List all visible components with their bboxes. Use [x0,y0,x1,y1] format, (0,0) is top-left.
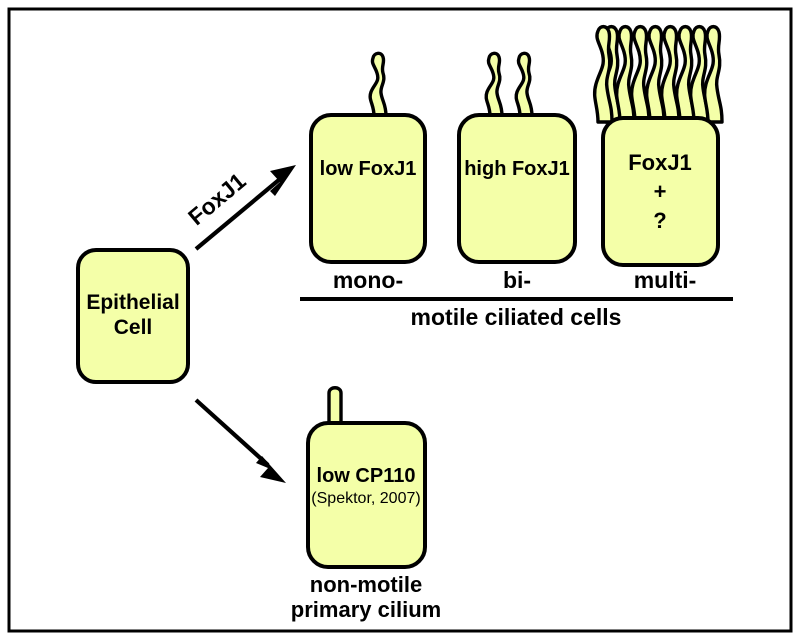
mono-ciliated-cell-prefix: mono- [333,267,403,293]
multi-cilium-3 [632,27,649,122]
epithelial-cell-label-line2: Cell [114,316,153,339]
primary-cilium-cell-label: low CP110 [317,465,416,487]
bi-ciliated-cell-body [459,115,575,262]
foxj1-arrow-label: FoxJ1 [183,167,251,230]
bi-ciliated-cell-label: high FoxJ1 [464,158,570,180]
mono-ciliated-cell-label: low FoxJ1 [320,158,417,180]
multi-ciliated-cell-label-line1: FoxJ1 [628,150,692,175]
multi-cilium-9 [595,27,612,122]
multi-cilium-4 [647,27,664,122]
multi-cilium-5 [662,27,679,122]
mono-cilium-1 [370,53,386,116]
multi-ciliated-cell-prefix: multi- [634,267,697,293]
primary-cilium-arrow [196,400,286,483]
bi-cilium-1 [486,53,502,116]
multi-ciliated-cell: FoxJ1 + ? multi- [595,27,722,293]
multi-ciliated-cell-label-line3: ? [653,208,666,233]
mono-ciliated-cell-body [311,115,425,262]
diagram-svg: Epithelial Cell FoxJ1 low FoxJ1 mono- [0,0,800,640]
primary-cilium-cell: low CP110 (Spektor, 2007) non-motile pri… [291,388,441,622]
primary-cilium-caption-line2: primary cilium [291,597,441,622]
primary-cilium-stalk [329,388,341,424]
primary-cilium-cell-citation: (Spektor, 2007) [311,490,420,507]
bi-ciliated-cell: high FoxJ1 bi- [459,53,575,293]
foxj1-arrow-head [270,165,296,196]
motile-group-label: motile ciliated cells [411,304,622,330]
diagram-canvas: Epithelial Cell FoxJ1 low FoxJ1 mono- [0,0,800,640]
epithelial-cell-label-line1: Epithelial [86,291,179,314]
bi-ciliated-cell-prefix: bi- [503,267,531,293]
primary-cilium-arrow-head [256,456,286,483]
multi-ciliated-cell-label-line2: + [654,179,667,204]
epithelial-cell: Epithelial Cell [78,250,188,382]
primary-cilium-caption-line1: non-motile [310,572,422,597]
multi-cilium-2 [617,27,634,122]
primary-cilium-arrow-shaft [196,400,268,465]
bi-cilium-2 [516,53,532,116]
foxj1-arrow: FoxJ1 [183,165,296,249]
mono-ciliated-cell: low FoxJ1 mono- [311,53,425,293]
multi-cilium-8 [705,27,722,122]
